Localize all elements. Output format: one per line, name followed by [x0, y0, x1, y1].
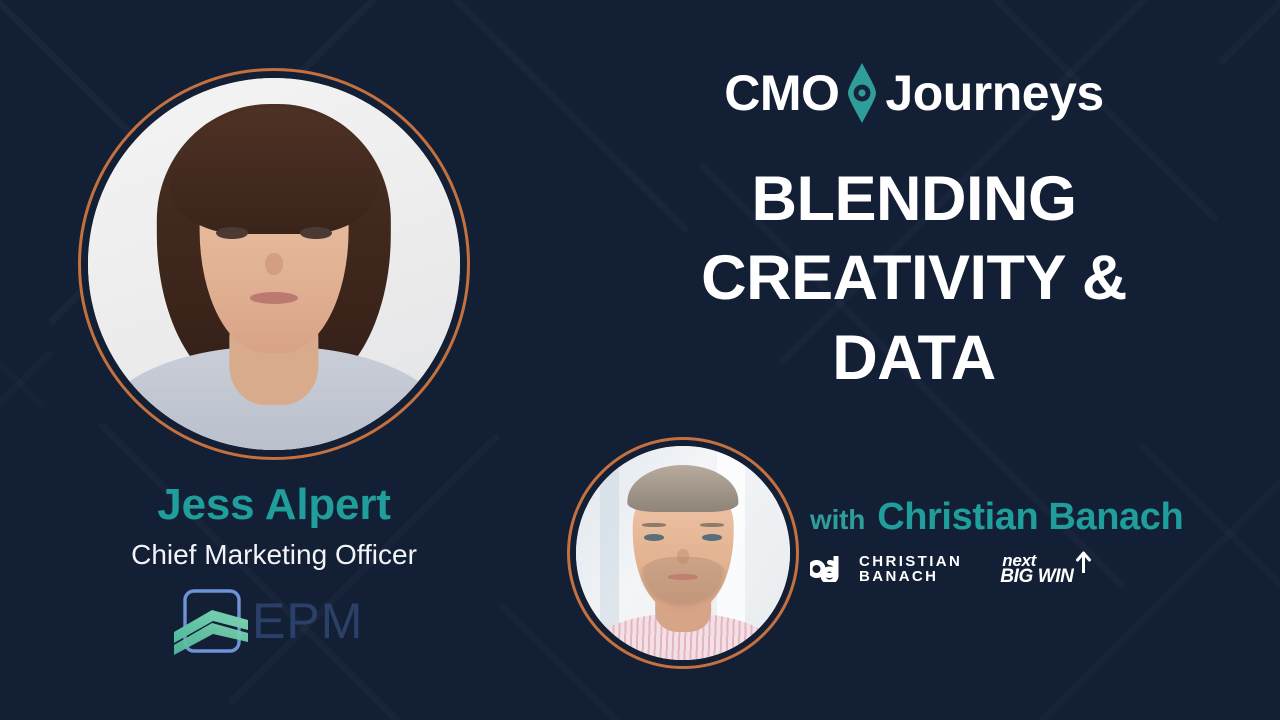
title-line-3: DATA [584, 319, 1244, 398]
cb-logo-line-2: BANACH [859, 569, 962, 584]
christian-banach-logo: CHRISTIAN BANACH [810, 554, 962, 585]
host-avatar-image [576, 446, 790, 660]
content-panel: CMO Journeys BLENDING CREATIVITY & DATA [548, 0, 1280, 720]
guest-portrait [88, 78, 460, 450]
guest-avatar-image [88, 78, 460, 450]
nbw-logo-line-2: BIG WIN [1000, 567, 1073, 586]
page-title: BLENDING CREATIVITY & DATA [584, 160, 1244, 398]
title-line-1: BLENDING [584, 160, 1244, 239]
show-logo: CMO Journeys [548, 62, 1280, 124]
host-portrait [576, 446, 790, 660]
epm-wordmark: EPM [252, 596, 363, 646]
host-logo-row: CHRISTIAN BANACH next BIG WIN [810, 552, 1280, 586]
host-name: Christian Banach [877, 496, 1183, 539]
map-pin-icon [843, 62, 881, 124]
brand-word-cmo: CMO [724, 68, 839, 118]
title-line-2: CREATIVITY & [584, 239, 1244, 318]
guest-avatar [78, 68, 470, 460]
host-credit: with Christian Banach [810, 496, 1280, 539]
host-avatar [567, 437, 799, 669]
up-arrow-icon [1075, 551, 1092, 573]
presentation-slide: Jess Alpert Chief Marketing Officer EPM … [0, 0, 1280, 720]
cb-monogram-icon [810, 556, 850, 582]
cb-logo-line-1: CHRISTIAN [859, 554, 962, 569]
guest-role: Chief Marketing Officer [0, 539, 548, 571]
host-with-label: with [810, 504, 865, 536]
next-big-win-logo: next BIG WIN [1000, 552, 1100, 586]
brand-word-journeys: Journeys [885, 68, 1103, 118]
epm-chevron-mark-icon [172, 586, 248, 656]
guest-company-logo: EPM [172, 584, 372, 658]
guest-panel: Jess Alpert Chief Marketing Officer EPM [0, 0, 548, 720]
guest-name: Jess Alpert [0, 480, 548, 530]
